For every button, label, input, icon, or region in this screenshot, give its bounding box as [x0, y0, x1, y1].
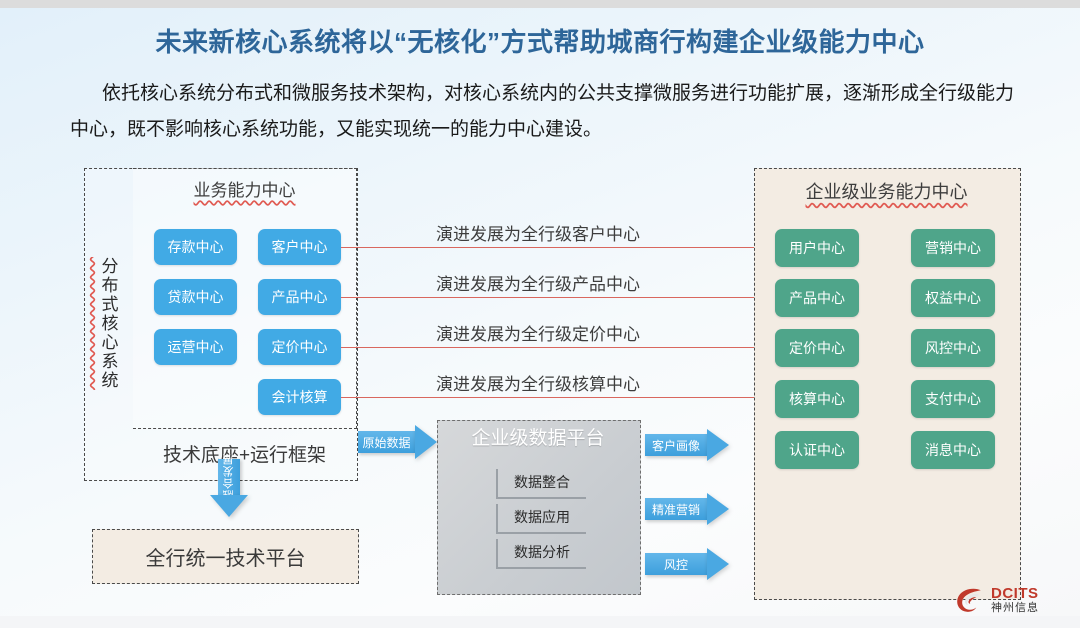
raw-data-arrow-head	[415, 425, 437, 459]
ent-box-authentication[interactable]: 认证中心	[775, 431, 859, 469]
slide-canvas: 未来新核心系统将以“无核化”方式帮助城商行构建企业级能力中心 依托核心系统分布式…	[0, 8, 1080, 616]
core-box-product-label: 产品中心	[272, 287, 328, 307]
fusion-down-arrow-label: 融合发展	[221, 453, 237, 501]
ent-box-marketing-label: 营销中心	[925, 238, 981, 258]
distributed-core-system-text: 分布式核心系统	[100, 257, 117, 390]
core-box-operation-label: 运营中心	[168, 337, 224, 357]
logo-cn: 神州信息	[991, 603, 1039, 614]
core-box-loan[interactable]: 贷款中心	[154, 279, 237, 315]
fusion-down-arrow-shaft: 融合发展	[218, 459, 240, 495]
page-title: 未来新核心系统将以“无核化”方式帮助城商行构建企业级能力中心	[0, 22, 1080, 59]
ent-box-risk-control[interactable]: 风控中心	[911, 329, 995, 367]
output-arrow-customer-profile-label: 客户画像	[645, 434, 707, 456]
unified-tech-platform-box[interactable]: 全行统一技术平台	[92, 529, 359, 584]
ent-box-user[interactable]: 用户中心	[775, 229, 859, 267]
raw-data-arrow: 原始数据	[358, 425, 437, 459]
distributed-core-system-label: 分布式核心系统	[84, 168, 132, 479]
core-box-deposit-label: 存款中心	[168, 237, 224, 257]
evolution-line-4	[341, 397, 773, 398]
bottom-strip	[0, 616, 1080, 628]
top-strip	[0, 0, 1080, 8]
ent-box-rights[interactable]: 权益中心	[911, 279, 995, 317]
evolution-label-2: 演进发展为全行级产品中心	[436, 270, 640, 295]
ent-box-authentication-label: 认证中心	[789, 440, 845, 460]
data-platform-item-analysis[interactable]: 数据分析	[496, 539, 586, 569]
core-box-customer[interactable]: 客户中心	[258, 229, 341, 265]
ent-box-accounting[interactable]: 核算中心	[775, 380, 859, 418]
slide-root: 未来新核心系统将以“无核化”方式帮助城商行构建企业级能力中心 依托核心系统分布式…	[0, 0, 1080, 628]
evolution-line-1	[341, 247, 773, 248]
output-arrow-precision-marketing: 精准营销	[645, 493, 729, 525]
raw-data-arrow-label: 原始数据	[358, 431, 415, 453]
ent-box-risk-control-label: 风控中心	[925, 338, 981, 358]
core-box-accounting[interactable]: 会计核算	[258, 379, 341, 415]
output-arrow-risk-control: 风控	[645, 548, 729, 580]
page-subtitle: 依托核心系统分布式和微服务技术架构，对核心系统内的公共支撑微服务进行功能扩展，逐…	[70, 76, 1020, 148]
ent-box-accounting-label: 核算中心	[789, 389, 845, 409]
core-box-pricing-label: 定价中心	[272, 337, 328, 357]
ent-box-marketing[interactable]: 营销中心	[911, 229, 995, 267]
company-logo: DCITS 神州信息	[956, 586, 1039, 614]
ent-box-pricing-label: 定价中心	[789, 338, 845, 358]
evolution-label-3: 演进发展为全行级定价中心	[436, 320, 640, 345]
output-arrow-risk-control-label: 风控	[645, 553, 707, 575]
logo-text: DCITS 神州信息	[991, 586, 1039, 614]
core-box-customer-label: 客户中心	[272, 237, 328, 257]
output-arrow-precision-marketing-head	[707, 493, 729, 525]
evolution-line-2	[341, 297, 773, 298]
dcits-swirl-icon	[956, 587, 986, 613]
ent-box-payment[interactable]: 支付中心	[911, 380, 995, 418]
core-box-loan-label: 贷款中心	[168, 287, 224, 307]
unified-tech-platform-label: 全行统一技术平台	[146, 542, 306, 571]
evolution-line-3	[341, 347, 773, 348]
ent-box-message[interactable]: 消息中心	[911, 431, 995, 469]
core-box-product[interactable]: 产品中心	[258, 279, 341, 315]
output-arrow-customer-profile-head	[707, 429, 729, 461]
evolution-label-1: 演进发展为全行级客户中心	[436, 220, 640, 245]
data-platform-item-integration[interactable]: 数据整合	[496, 469, 586, 499]
core-box-deposit[interactable]: 存款中心	[154, 229, 237, 265]
ent-box-rights-label: 权益中心	[925, 288, 981, 308]
ent-box-product-label: 产品中心	[789, 288, 845, 308]
ent-box-pricing[interactable]: 定价中心	[775, 329, 859, 367]
fusion-down-arrow: 融合发展	[210, 459, 248, 517]
output-arrow-precision-marketing-label: 精准营销	[645, 498, 707, 520]
evolution-label-4: 演进发展为全行级核算中心	[436, 370, 640, 395]
business-capability-center-title: 业务能力中心	[133, 176, 356, 201]
output-arrow-risk-control-head	[707, 548, 729, 580]
core-box-accounting-label: 会计核算	[272, 387, 328, 407]
ent-box-message-label: 消息中心	[925, 440, 981, 460]
ent-box-product[interactable]: 产品中心	[775, 279, 859, 317]
fusion-down-arrow-head	[210, 495, 248, 517]
data-platform-item-application[interactable]: 数据应用	[496, 504, 586, 534]
ent-box-payment-label: 支付中心	[925, 389, 981, 409]
data-platform-title: 企业级数据平台	[437, 423, 639, 450]
logo-en: DCITS	[991, 586, 1039, 601]
enterprise-capability-center-title: 企业级业务能力中心	[754, 178, 1019, 204]
ent-box-user-label: 用户中心	[789, 238, 845, 258]
core-box-operation[interactable]: 运营中心	[154, 329, 237, 365]
core-box-pricing[interactable]: 定价中心	[258, 329, 341, 365]
output-arrow-customer-profile: 客户画像	[645, 429, 729, 461]
